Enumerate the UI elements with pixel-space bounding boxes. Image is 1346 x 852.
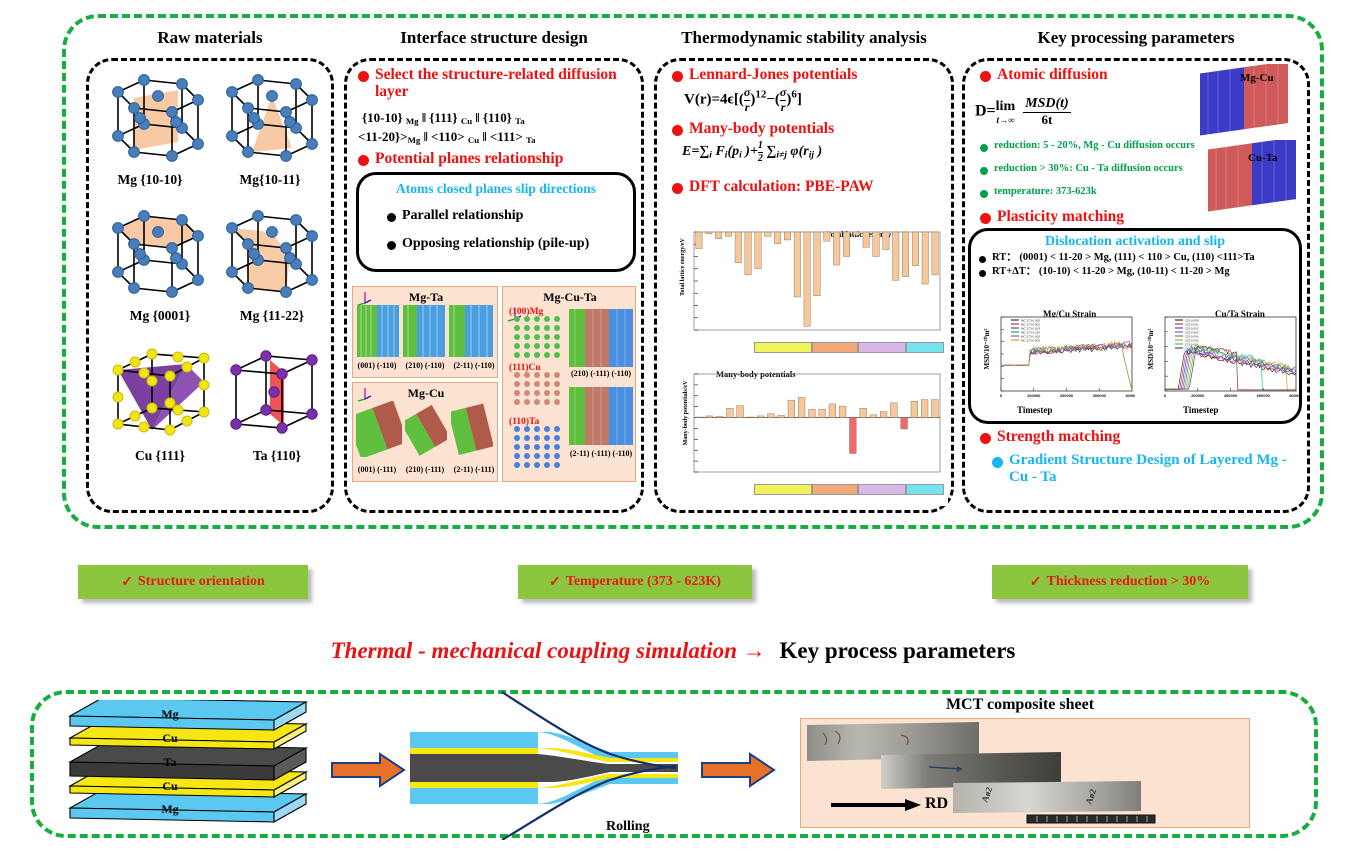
thermo-bullet-3-label: DFT calculation: PBE-PAW [689, 178, 874, 195]
summary-button-thickness-reduction[interactable]: ✓ Thickness reduction > 30% [992, 565, 1248, 599]
mg-cu-ta-caption-1: (2-11) (-111) (-110) [563, 449, 639, 458]
mg-cu-model-c [451, 401, 493, 457]
chart2-group-yellow [754, 484, 812, 495]
bullet-dot-icon [980, 213, 991, 224]
bullet-dot-icon [979, 270, 986, 277]
iface-slip-item-0: Parallel relationship [402, 208, 523, 224]
bullet-dot-icon [979, 256, 986, 263]
plane-label-110-ta: (110)Ta [509, 417, 539, 427]
plane-label-100-mg: (100)Mg [509, 307, 543, 317]
iface-bullet-2-label: Potential planes relationship [375, 150, 563, 167]
chart-cu-ta-strain: MSD/10⁻²⁰m² Cu/Ta Strain 040000800001200… [1141, 305, 1301, 421]
chart1-group-cyan [906, 342, 944, 353]
thermo-bullet-1: Lennard-Jones potentials [672, 66, 944, 83]
mg-cu-ta-model-a [569, 309, 633, 367]
bullet-dot-icon [387, 213, 396, 222]
svg-text:223-0.007: 223-0.007 [1185, 346, 1199, 350]
svg-text:120000: 120000 [1163, 344, 1164, 349]
svg-text:80000: 80000 [999, 339, 1000, 344]
thermo-formula-1: V(r)=4ϵ[(σr)12−(σr)6] [684, 86, 802, 115]
chart2-group-purple [858, 484, 906, 495]
svg-text:40000: 40000 [1163, 374, 1164, 379]
process-arrow-2 [700, 752, 778, 788]
thermo-bullet-2-label: Many-body potentials [689, 120, 834, 137]
thermo-bullet-3: DFT calculation: PBE-PAW [672, 178, 944, 195]
bullet-dot-icon [672, 125, 683, 136]
chart2-plot: -0.8-0.6-0.4-0.20.00.20.40.60.81.0 [692, 368, 944, 484]
svg-text:200000: 200000 [1060, 393, 1074, 398]
keypar-bullet-4-label: Gradient Structure Design of Layered Mg … [1009, 452, 1292, 487]
check-icon: ✓ [121, 574, 133, 591]
bullet-dot-icon [387, 241, 396, 250]
model-panel-mg-ta: Mg-Ta (001) (-110) (210) (-110) (2-11) (… [352, 286, 498, 378]
svg-text:MC 373-0.005: MC 373-0.005 [1021, 338, 1040, 342]
rd-label: RD [925, 795, 948, 813]
slip-line-1: RT+ΔT： (10-10) < 11-20 > Mg, (10-11) < 1… [992, 266, 1230, 278]
keypar-green-label-0: reduction: 5 - 20%, Mg - Cu diffusion oc… [994, 140, 1195, 152]
stack-label-mg-top: Mg [161, 707, 178, 721]
chart-total-lattice-energy: Total lattice energy/eV Total lattice en… [666, 224, 948, 360]
crystal-mg-1011 [218, 72, 326, 172]
keypar-bullet-3: Strength matching [980, 428, 1260, 445]
slip-line-0: RT： (0001) < 11-20 > Mg, (111) < 110 > C… [992, 252, 1255, 264]
svg-text:100000: 100000 [1027, 393, 1041, 398]
bullet-dot-icon [672, 71, 683, 82]
keypar-bullet-2-label: Plasticity matching [997, 208, 1124, 225]
keypar-bullet-2: Plasticity matching [980, 208, 1240, 225]
chart1-ylabel: Total lattice energy/eV [680, 212, 686, 322]
svg-text:0: 0 [1000, 393, 1003, 398]
svg-text:160000: 160000 [1163, 330, 1164, 335]
stack-label-mg-bottom: Mg [161, 802, 178, 816]
panel-title-key-processing: Key processing parameters [962, 28, 1310, 48]
crystal-mg-1122 [218, 208, 326, 308]
mg-cu-ta-left-column [509, 309, 565, 475]
mg-ta-model-a [357, 305, 399, 357]
chart3-ylabel: MSD/10⁻²⁰m² [983, 309, 991, 389]
thermo-formula-2: E=∑i Fi(pi )+12 ∑i≠j φ(rij ) [682, 140, 822, 164]
bullet-dot-icon [980, 71, 991, 82]
svg-text:20000: 20000 [999, 376, 1000, 381]
chart3-xlabel: Timestep [1017, 405, 1052, 415]
plane-label-111-cu: (111)Cu [509, 363, 541, 373]
keypar-bullet-1: Atomic diffusion [980, 66, 1180, 83]
chart2-group-cyan [906, 484, 944, 495]
summary-label-1: Temperature (373 - 623K) [566, 574, 721, 590]
chart3-plot: 0200004000060000800001000001200000100000… [999, 305, 1135, 405]
summary-label-2: Thickness reduction > 30% [1047, 574, 1211, 590]
crystal-label-mg-1011: Mg{10-11} [210, 172, 330, 188]
model-panel-mg-cu: Mg-Cu (001) (-111) (210) (-111) (2-11) (… [352, 382, 498, 482]
crystal-label-mg-1122: Mg {11-22} [212, 308, 332, 324]
crystal-cu-111 [108, 348, 212, 446]
model-panel-mg-cu-ta: Mg-Cu-Ta (100)Mg (111)Cu (110)Ta (210) (… [502, 286, 636, 482]
keypar-dislocation-box: Dislocation activation and slip RT： (000… [968, 228, 1302, 424]
chart1-plot: 0.0-0.2-0.4-0.6-0.8-1.0-1.2-1.4-1.6 [692, 226, 944, 342]
rolling-label-text: Rolling [606, 819, 650, 834]
crystal-label-ta-110: Ta {110} [222, 448, 332, 464]
iface-orientation-line-2: <11-20}>Mg ‖ <110> Cu ‖ <111> Ta [358, 130, 638, 145]
chart2-group-swatches [692, 484, 944, 495]
dislocation-box-title: Dislocation activation and slip [971, 234, 1299, 250]
chart4-xlabel: Timestep [1183, 405, 1218, 415]
model-panel-mg-cu-ta-title: Mg-Cu-Ta [503, 290, 637, 305]
chart-many-body-potentials: Many-body potentials/eV Many-body potent… [666, 366, 948, 506]
iface-slip-item-1: Opposing relationship (pile-up) [402, 236, 589, 252]
svg-text:800000: 800000 [1289, 393, 1299, 398]
keypar-bullet-1-label: Atomic diffusion [997, 66, 1108, 83]
md-box-cu-ta-label: Cu-Ta [1248, 152, 1278, 164]
bullet-dot-icon [980, 433, 991, 444]
mg-ta-caption-2: (2-11) (-110) [449, 361, 499, 370]
model-panel-mg-ta-title: Mg-Ta [353, 290, 499, 305]
summary-button-temperature[interactable]: ✓ Temperature (373 - 623K) [518, 565, 752, 599]
keypar-green-label-1: reduction > 30%: Cu - Ta diffusion occur… [994, 163, 1183, 175]
stack-label-cu-top: Cu [162, 731, 178, 745]
product-title: MCT composite sheet [880, 696, 1160, 714]
mg-cu-caption-0: (001) (-111) [353, 465, 401, 474]
crystal-ta-110 [224, 348, 324, 446]
iface-slip-directions-box: Atoms closed planes slip directions Para… [356, 172, 636, 272]
svg-text:100000: 100000 [999, 327, 1000, 332]
bullet-dot-icon [358, 71, 369, 82]
svg-text:200000: 200000 [1163, 315, 1164, 320]
model-panel-mg-cu-title: Mg-Cu [353, 386, 499, 401]
mg-cu-model-b [405, 401, 447, 457]
svg-text:60000: 60000 [999, 352, 1000, 357]
chart2-ylabel: Many-body potentials/eV [683, 353, 689, 473]
mg-ta-model-b [403, 305, 445, 357]
panel-title-interface-structure: Interface structure design [344, 28, 644, 48]
chart1-group-orange [812, 342, 858, 353]
svg-text:80000: 80000 [1163, 359, 1164, 364]
chart-mg-cu-strain: MSD/10⁻²⁰m² Mg/Cu Strain 020000400006000… [977, 305, 1137, 421]
md-box-cu-ta-render [1204, 140, 1300, 212]
summary-label-0: Structure orientation [138, 574, 265, 590]
bullet-dot-icon [980, 190, 988, 198]
rolling-diagram: Rolling [410, 690, 680, 840]
chart2-group-orange [812, 484, 858, 495]
mg-cu-caption-2: (2-11) (-111) [449, 465, 499, 474]
crystal-mg-1010 [104, 72, 212, 172]
process-arrow-1 [330, 752, 408, 788]
svg-text:400000: 400000 [1224, 393, 1238, 398]
headline: Thermal - mechanical coupling simulation… [0, 638, 1346, 664]
product-photo-panel: Aø2 Aø2 RD [800, 718, 1250, 828]
stack-label-ta: Ta [164, 755, 177, 769]
keypar-diffusion-formula: D=limt→∞ MSD(t)6t [975, 96, 1071, 128]
bullet-dot-icon [980, 167, 988, 175]
svg-text:400000: 400000 [1125, 393, 1135, 398]
iface-slip-box-title: Atoms closed planes slip directions [359, 181, 633, 197]
keypar-bullet-3-label: Strength matching [997, 428, 1120, 445]
svg-text:0: 0 [1164, 393, 1167, 398]
thermo-bullet-2: Many-body potentials [672, 120, 944, 137]
bullet-dot-icon [358, 155, 369, 166]
crystal-label-cu-111: Cu {111} [105, 448, 215, 464]
stack-label-cu-bottom: Cu [162, 779, 178, 793]
composite-sheet-photos: Aø2 Aø2 [801, 719, 1251, 829]
headline-black: Key process parameters [779, 638, 1015, 663]
panel-title-thermodynamic: Thermodynamic stability analysis [644, 28, 964, 48]
svg-text:200000: 200000 [1191, 393, 1205, 398]
keypar-green-item-0: reduction: 5 - 20%, Mg - Cu diffusion oc… [980, 140, 1240, 152]
mg-cu-ta-model-b [569, 387, 633, 445]
panel-title-raw-materials: Raw materials [86, 28, 334, 48]
chart4-ylabel: MSD/10⁻²⁰m² [1147, 309, 1155, 389]
iface-bullet-1: Select the structure-related diffusion l… [358, 66, 636, 101]
bullet-dot-icon [980, 144, 988, 152]
summary-button-structure-orientation[interactable]: ✓ Structure orientation [78, 565, 308, 599]
headline-italic-red: Thermal - mechanical coupling simulation… [331, 638, 766, 663]
mg-ta-model-c [449, 305, 493, 357]
chart1-group-swatches [692, 342, 944, 353]
crystal-label-mg-0001: Mg {0001} [100, 308, 220, 324]
svg-text:40000: 40000 [999, 364, 1000, 369]
mg-cu-caption-1: (210) (-111) [401, 465, 449, 474]
md-box-cu-ta: Cu-Ta [1204, 140, 1300, 212]
keypar-green-item-2: temperature: 373-623k [980, 186, 1240, 198]
bullet-dot-icon [672, 183, 683, 194]
crystal-label-mg-1010: Mg {10-10} [90, 172, 210, 188]
check-icon: ✓ [549, 574, 561, 591]
iface-orientation-line-1: {10-10} Mg ‖ {111} Cu ‖ {110} Ta [362, 111, 636, 126]
svg-text:300000: 300000 [1093, 393, 1107, 398]
layer-stack-diagram: Mg Cu Ta Cu Mg [62, 700, 322, 830]
svg-text:120000: 120000 [999, 315, 1000, 320]
keypar-green-item-1: reduction > 30%: Cu - Ta diffusion occur… [980, 163, 1240, 175]
crystal-mg-0001 [104, 208, 212, 308]
mg-ta-caption-0: (001) (-110) [353, 361, 401, 370]
mg-cu-model-a [356, 401, 402, 457]
mg-ta-caption-1: (210) (-110) [401, 361, 449, 370]
chart1-group-yellow [754, 342, 812, 353]
check-icon: ✓ [1030, 574, 1042, 591]
iface-bullet-1-label: Select the structure-related diffusion l… [375, 66, 636, 101]
svg-text:600000: 600000 [1257, 393, 1271, 398]
rd-arrow-icon [831, 799, 921, 811]
chart4-plot: 0400008000012000016000020000002000004000… [1163, 305, 1299, 405]
thermo-bullet-1-label: Lennard-Jones potentials [689, 66, 857, 83]
chart1-group-purple [858, 342, 906, 353]
keypar-bullet-4: Gradient Structure Design of Layered Mg … [992, 452, 1292, 487]
iface-bullet-2: Potential planes relationship [358, 150, 636, 167]
mg-cu-ta-caption-0: (210) (-111) (-110) [565, 369, 637, 378]
keypar-green-label-2: temperature: 373-623k [994, 186, 1097, 198]
md-box-mg-cu-label: Mg-Cu [1240, 72, 1274, 84]
bullet-dot-icon [992, 457, 1003, 468]
md-box-mg-cu: Mg-Cu [1196, 64, 1292, 136]
